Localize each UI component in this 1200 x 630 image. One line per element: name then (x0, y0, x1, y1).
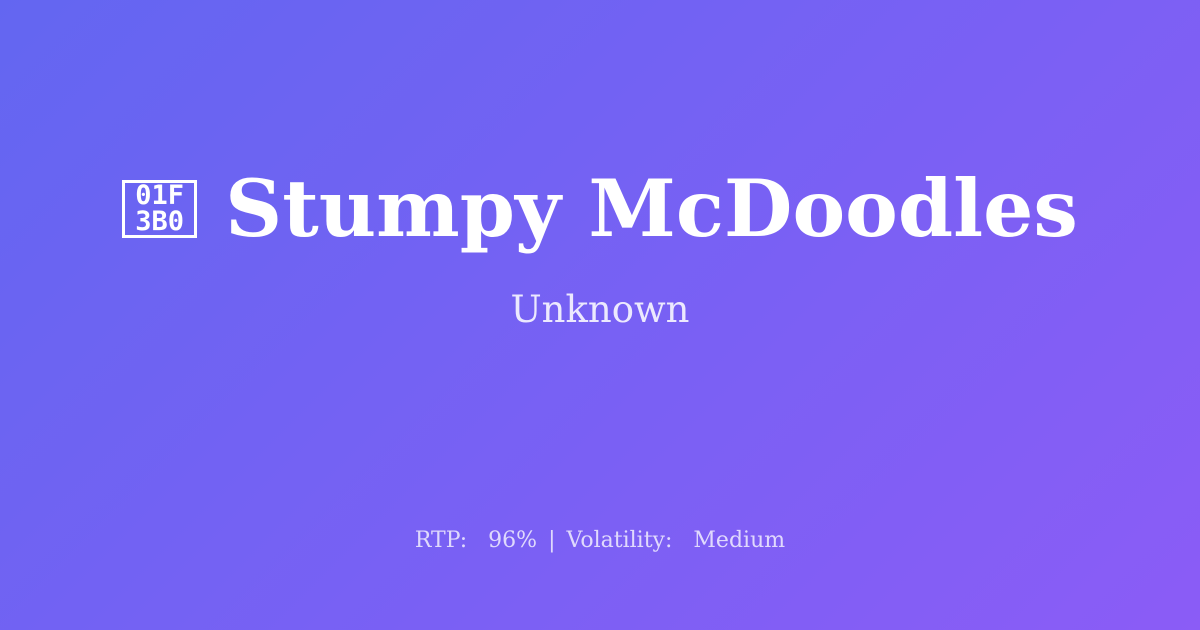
page-title: Stumpy McDoodles (225, 169, 1078, 248)
volatility-label: Volatility: (567, 528, 673, 553)
rtp-value: 96% (488, 528, 537, 553)
volatility-value: Medium (693, 528, 785, 553)
og-share-card: 01F 3B0 Stumpy McDoodles Unknown RTP: 96… (0, 0, 1200, 630)
meta-separator: | (544, 528, 559, 553)
slot-machine-emoji-fallback-icon: 01F 3B0 (122, 180, 197, 238)
page-subtitle: Unknown (510, 288, 689, 331)
title-row: 01F 3B0 Stumpy McDoodles (122, 169, 1078, 248)
hero-block: 01F 3B0 Stumpy McDoodles Unknown (0, 0, 1200, 500)
rtp-label: RTP: (415, 528, 467, 553)
game-meta-line: RTP: 96% | Volatility: Medium (0, 528, 1200, 553)
tofu-hex-row-bottom: 3B0 (135, 209, 184, 235)
